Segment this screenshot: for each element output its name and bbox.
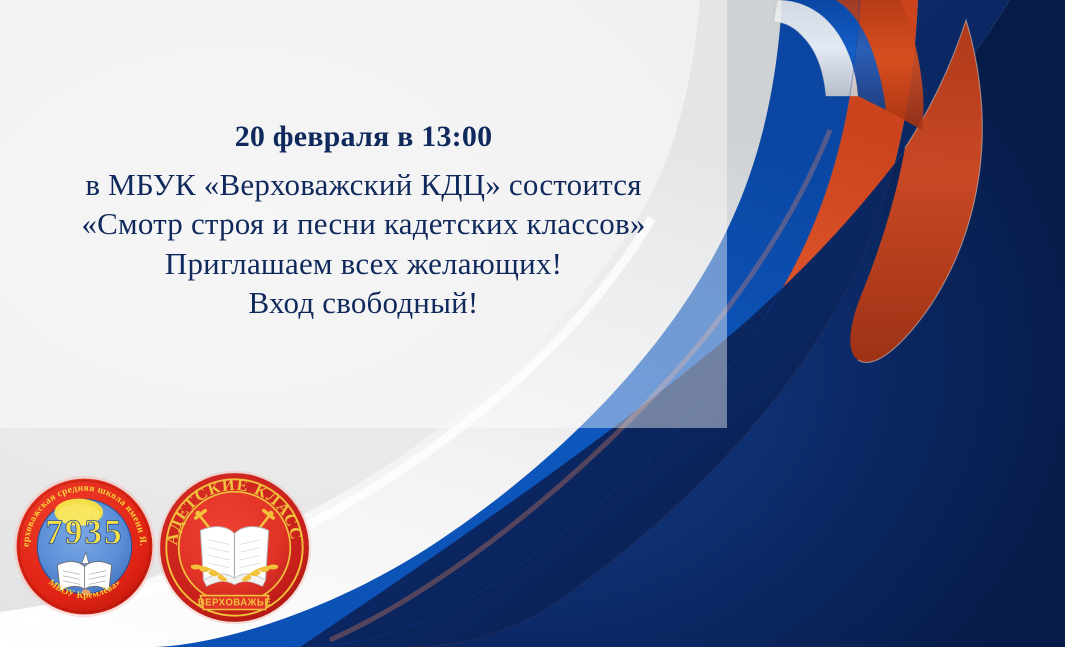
announcement-line-3: «Смотр строя и песни кадетских классов» <box>0 204 727 243</box>
announcement-line-2: в МБУК «Верховажский КДЦ» состоится <box>0 165 727 204</box>
announcement-line-4: Приглашаем всех желающих! <box>0 244 727 283</box>
school-emblem: 7935 «Верховажская средняя школа имен <box>13 473 156 620</box>
cadet-emblem-banner-text: ВЕРХОВАЖЬЕ <box>198 598 272 609</box>
poster-root: 20 февраля в 13:00 в МБУК «Верховажский … <box>0 0 1065 647</box>
announcement-text-block: 20 февраля в 13:00 в МБУК «Верховажский … <box>0 0 727 323</box>
school-emblem-year: 7935 <box>45 513 124 552</box>
announcement-line-5: Вход свободный! <box>0 283 727 322</box>
announcement-line-1: 20 февраля в 13:00 <box>0 118 727 156</box>
cadet-emblem: ВЕРХОВАЖЬЕ КАДЕТСКИЕ КЛАССЫ <box>157 470 312 625</box>
